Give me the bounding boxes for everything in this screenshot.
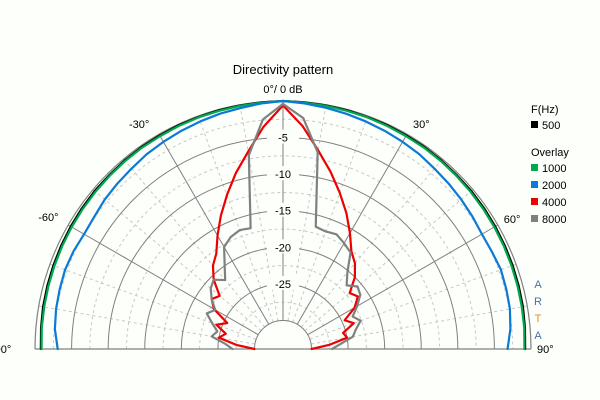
radial-tick--10: -10 (275, 169, 291, 181)
directivity-polar-chart: Directivity pattern -5-10-15-20-25 -90°-… (0, 0, 600, 400)
chart-title-group: Directivity pattern (233, 62, 333, 77)
legend-swatch-icon (531, 215, 538, 222)
arta-watermark: ARTA (534, 279, 542, 342)
legend-item-2000[interactable]: 2000 (531, 180, 566, 192)
legend-swatch-icon (531, 198, 538, 205)
watermark-letter-0: A (534, 279, 542, 291)
legend-label: 8000 (542, 214, 566, 226)
watermark-letter-1: R (534, 296, 542, 308)
angle-tick-0: 0°/ 0 dB (263, 84, 302, 96)
legend-label: 2000 (542, 180, 566, 192)
radial-tick--20: -20 (275, 242, 291, 254)
legend-label: 4000 (542, 197, 566, 209)
legend-heading-0: F(Hz) (531, 104, 559, 116)
angle-tick-neg90: -90° (0, 344, 11, 356)
legend-swatch-icon (531, 164, 538, 171)
legend-item-4000[interactable]: 4000 (531, 197, 566, 209)
watermark-letter-2: T (535, 313, 542, 325)
legend-item-500[interactable]: 500 (531, 120, 560, 132)
legend-swatch-icon (531, 181, 538, 188)
angle-tick-60: 60° (504, 214, 521, 226)
radial-tick--5: -5 (278, 133, 288, 145)
legend-heading-1: Overlay (531, 147, 569, 159)
watermark-letter-3: A (534, 330, 542, 342)
angle-tick-30: 30° (413, 119, 430, 131)
legend-label: 1000 (542, 163, 566, 175)
legend-swatch-icon (531, 121, 538, 128)
angle-tick-labels: -90°-60°-30°0°/ 0 dB30°60°90° (0, 84, 554, 356)
radial-tick--25: -25 (275, 279, 291, 291)
legend-item-1000[interactable]: 1000 (531, 163, 566, 175)
angle-tick-90: 90° (537, 344, 554, 356)
angle-tick-neg60: -60° (38, 212, 58, 224)
page-title: Directivity pattern (233, 62, 333, 77)
legend-item-8000[interactable]: 8000 (531, 214, 566, 226)
legend-label: 500 (542, 120, 560, 132)
angle-tick-neg30: -30° (129, 119, 149, 131)
legend: F(Hz)500Overlay1000200040008000 (531, 104, 569, 226)
radial-tick--15: -15 (275, 206, 291, 218)
